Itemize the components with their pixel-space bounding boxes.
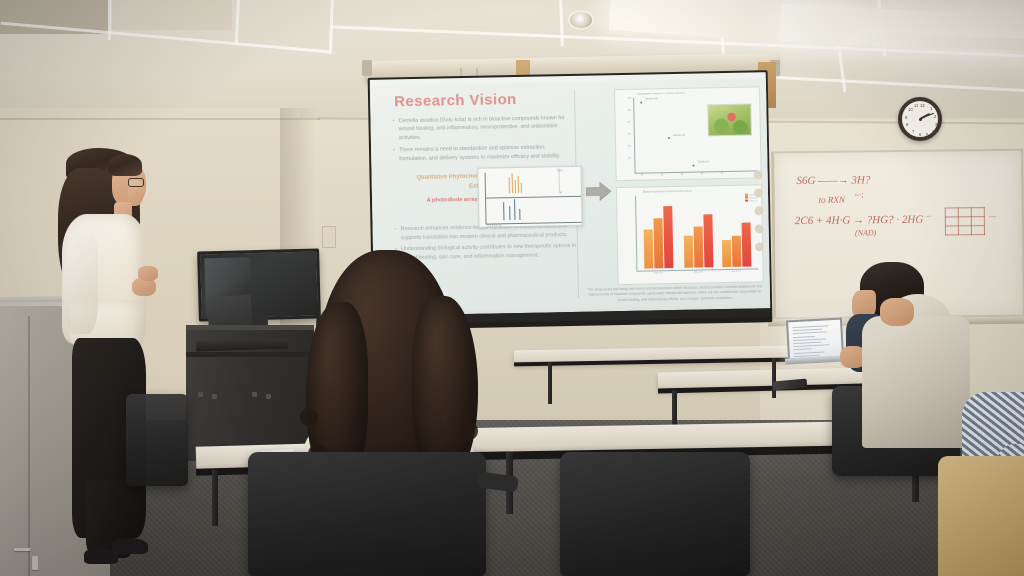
clock-numeral: 11 — [914, 103, 918, 108]
scatter-ytick: 20 — [628, 158, 631, 160]
bar-category-label: Extract A — [643, 272, 675, 275]
scatter-xtick: 10 — [641, 175, 644, 177]
bar-chart-title: Bioactive compound content of herbal ext… — [643, 190, 692, 194]
presenter — [56, 140, 176, 576]
clock-numeral: 10 — [908, 107, 913, 112]
clock-numeral: 4 — [932, 129, 934, 134]
bar-category-label: Extract C — [720, 271, 752, 274]
slide-bullet: Centella asiatica (Gotu kola) is rich in… — [392, 114, 570, 143]
scatter-point-label: Sample mid — [673, 135, 685, 137]
clock-numeral: 6 — [919, 132, 921, 137]
scatter-chart: Comparative analysis of extracted sample… — [614, 86, 762, 181]
scatter-xtick: 30 — [681, 174, 684, 176]
scatter-xtick: 50 — [721, 173, 724, 175]
chair-front-middle[interactable] — [560, 452, 750, 576]
ceiling-speaker-icon — [568, 10, 594, 30]
right-arrow-icon — [586, 181, 612, 201]
slide-bullet: There remains a need to standardize and … — [393, 143, 571, 163]
wall-seam — [0, 118, 320, 120]
chair-left-small[interactable] — [126, 394, 188, 486]
clock-numeral: 8 — [906, 122, 908, 127]
slide-title: Research Vision — [394, 91, 517, 110]
whiteboard-line-4: (NAD) — [855, 228, 876, 237]
presenter-glasses — [128, 178, 144, 187]
student-checkered-shirt — [942, 392, 1024, 576]
cabinet-handle-right[interactable] — [32, 556, 38, 570]
bar-category-label: Extract B — [682, 271, 714, 274]
screen-housing-end-left — [362, 60, 372, 76]
scatter-ytick: 40 — [628, 146, 631, 148]
chair-front-left[interactable] — [248, 452, 486, 576]
scatter-xtick: 40 — [701, 173, 704, 175]
clock-numeral: 7 — [912, 129, 914, 134]
clock-numeral: 9 — [905, 115, 907, 120]
scatter-point-label: Sample low — [697, 161, 709, 163]
clock-numeral: 12 — [920, 103, 925, 108]
whiteboard-line-3: 2C6 + 4H·G → ?HG? · 2HG — [795, 214, 924, 227]
clock-numeral: 2 — [934, 114, 936, 119]
clock-numeral: 3 — [935, 122, 937, 127]
chromatogram-chart: Trace ref 0 2 4 6 8 10 — [477, 166, 582, 228]
scatter-ytick: 100 — [627, 110, 631, 112]
whiteboard-line-2: to RXN — [819, 195, 845, 205]
scatter-point-label: Sample high — [645, 98, 658, 100]
centella-asiatica-plant-photo — [707, 104, 752, 137]
clock-center — [919, 118, 922, 121]
cabinet-handle-left[interactable] — [14, 548, 30, 551]
classroom-scene: 12 1 2 3 4 5 6 7 8 9 10 11 S6G ——→ 3H? t… — [0, 0, 1024, 576]
whiteboard-table-sketch — [945, 207, 985, 235]
scatter-ytick: 60 — [628, 134, 631, 136]
wall-outlet — [322, 226, 336, 248]
bar-chart: Bioactive compound content of herbal ext… — [616, 184, 764, 285]
clock-numeral: 1 — [930, 106, 932, 111]
scatter-xtick: 20 — [661, 174, 664, 176]
slide-dot-decoration — [754, 170, 765, 260]
scatter-ytick: 80 — [628, 122, 631, 124]
slide-caption: The study found that assay with herbs so… — [586, 284, 764, 303]
slide-bullet-list: Centella asiatica (Gotu kola) is rich in… — [392, 114, 571, 167]
whiteboard-line-1: S6G ——→ 3H? — [796, 174, 870, 187]
scatter-chart-title: Comparative analysis of extracted sample… — [637, 92, 685, 96]
scatter-ytick: 120 — [627, 98, 631, 100]
clock-numeral: 5 — [926, 132, 928, 137]
wall-clock: 12 1 2 3 4 5 6 7 8 9 10 11 — [898, 97, 942, 141]
